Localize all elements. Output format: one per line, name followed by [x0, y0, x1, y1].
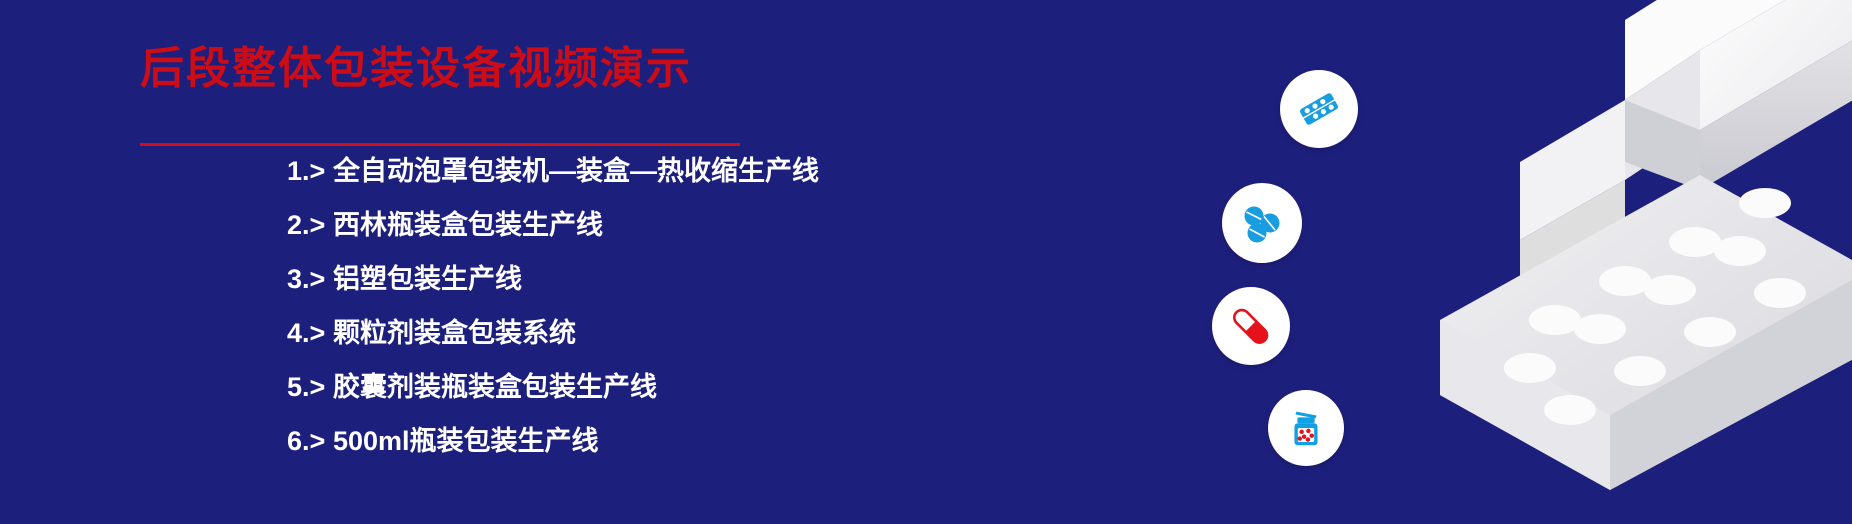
- pill-bottle-glyph: [1281, 403, 1331, 453]
- capsule-glyph: [1225, 300, 1277, 352]
- list-item-index: 6.>: [287, 428, 333, 455]
- carton-svg: [1370, 0, 1852, 524]
- list-item[interactable]: 3.> 铝塑包装生产线: [287, 266, 1147, 320]
- promo-banner: 后段整体包装设备视频演示 1.> 全自动泡罩包装机—装盒—热收缩生产线 2.> …: [0, 0, 1852, 524]
- blister-pack-glyph: [1293, 83, 1345, 135]
- list-item[interactable]: 5.> 胶囊剂装瓶装盒包装生产线: [287, 374, 1147, 428]
- carton-lid: [1625, 0, 1852, 190]
- list-item[interactable]: 1.> 全自动泡罩包装机—装盒—热收缩生产线: [287, 158, 1147, 212]
- list-item-label: 全自动泡罩包装机—装盒—热收缩生产线: [333, 158, 819, 185]
- pharmaceutical-carton-illustration: [1370, 0, 1852, 524]
- list-item[interactable]: 6.> 500ml瓶装包装生产线: [287, 428, 1147, 482]
- list-item-index: 1.>: [287, 158, 333, 185]
- list-item-label: 胶囊剂装瓶装盒包装生产线: [333, 374, 657, 401]
- list-item[interactable]: 4.> 颗粒剂装盒包装系统: [287, 320, 1147, 374]
- capsule-icon: [1212, 287, 1290, 365]
- list-item-label: 铝塑包装生产线: [333, 266, 522, 293]
- list-item-label: 颗粒剂装盒包装系统: [333, 320, 576, 347]
- list-item-index: 2.>: [287, 212, 333, 239]
- tablets-icon: [1222, 183, 1302, 263]
- list-item-index: 4.>: [287, 320, 333, 347]
- pill-bottle-icon: [1268, 390, 1344, 466]
- list-item-index: 5.>: [287, 374, 333, 401]
- blister-pack-icon: [1280, 70, 1358, 148]
- list-item-index: 3.>: [287, 266, 333, 293]
- page-title: 后段整体包装设备视频演示: [140, 46, 692, 92]
- blister-tray: [1440, 175, 1852, 490]
- title-underline-rule: [140, 143, 740, 146]
- list-item[interactable]: 2.> 西林瓶装盒包装生产线: [287, 212, 1147, 266]
- product-line-list: 1.> 全自动泡罩包装机—装盒—热收缩生产线 2.> 西林瓶装盒包装生产线 3.…: [287, 158, 1147, 482]
- list-item-label: 西林瓶装盒包装生产线: [333, 212, 603, 239]
- tablets-glyph: [1236, 197, 1288, 249]
- list-item-label: 500ml瓶装包装生产线: [333, 428, 599, 455]
